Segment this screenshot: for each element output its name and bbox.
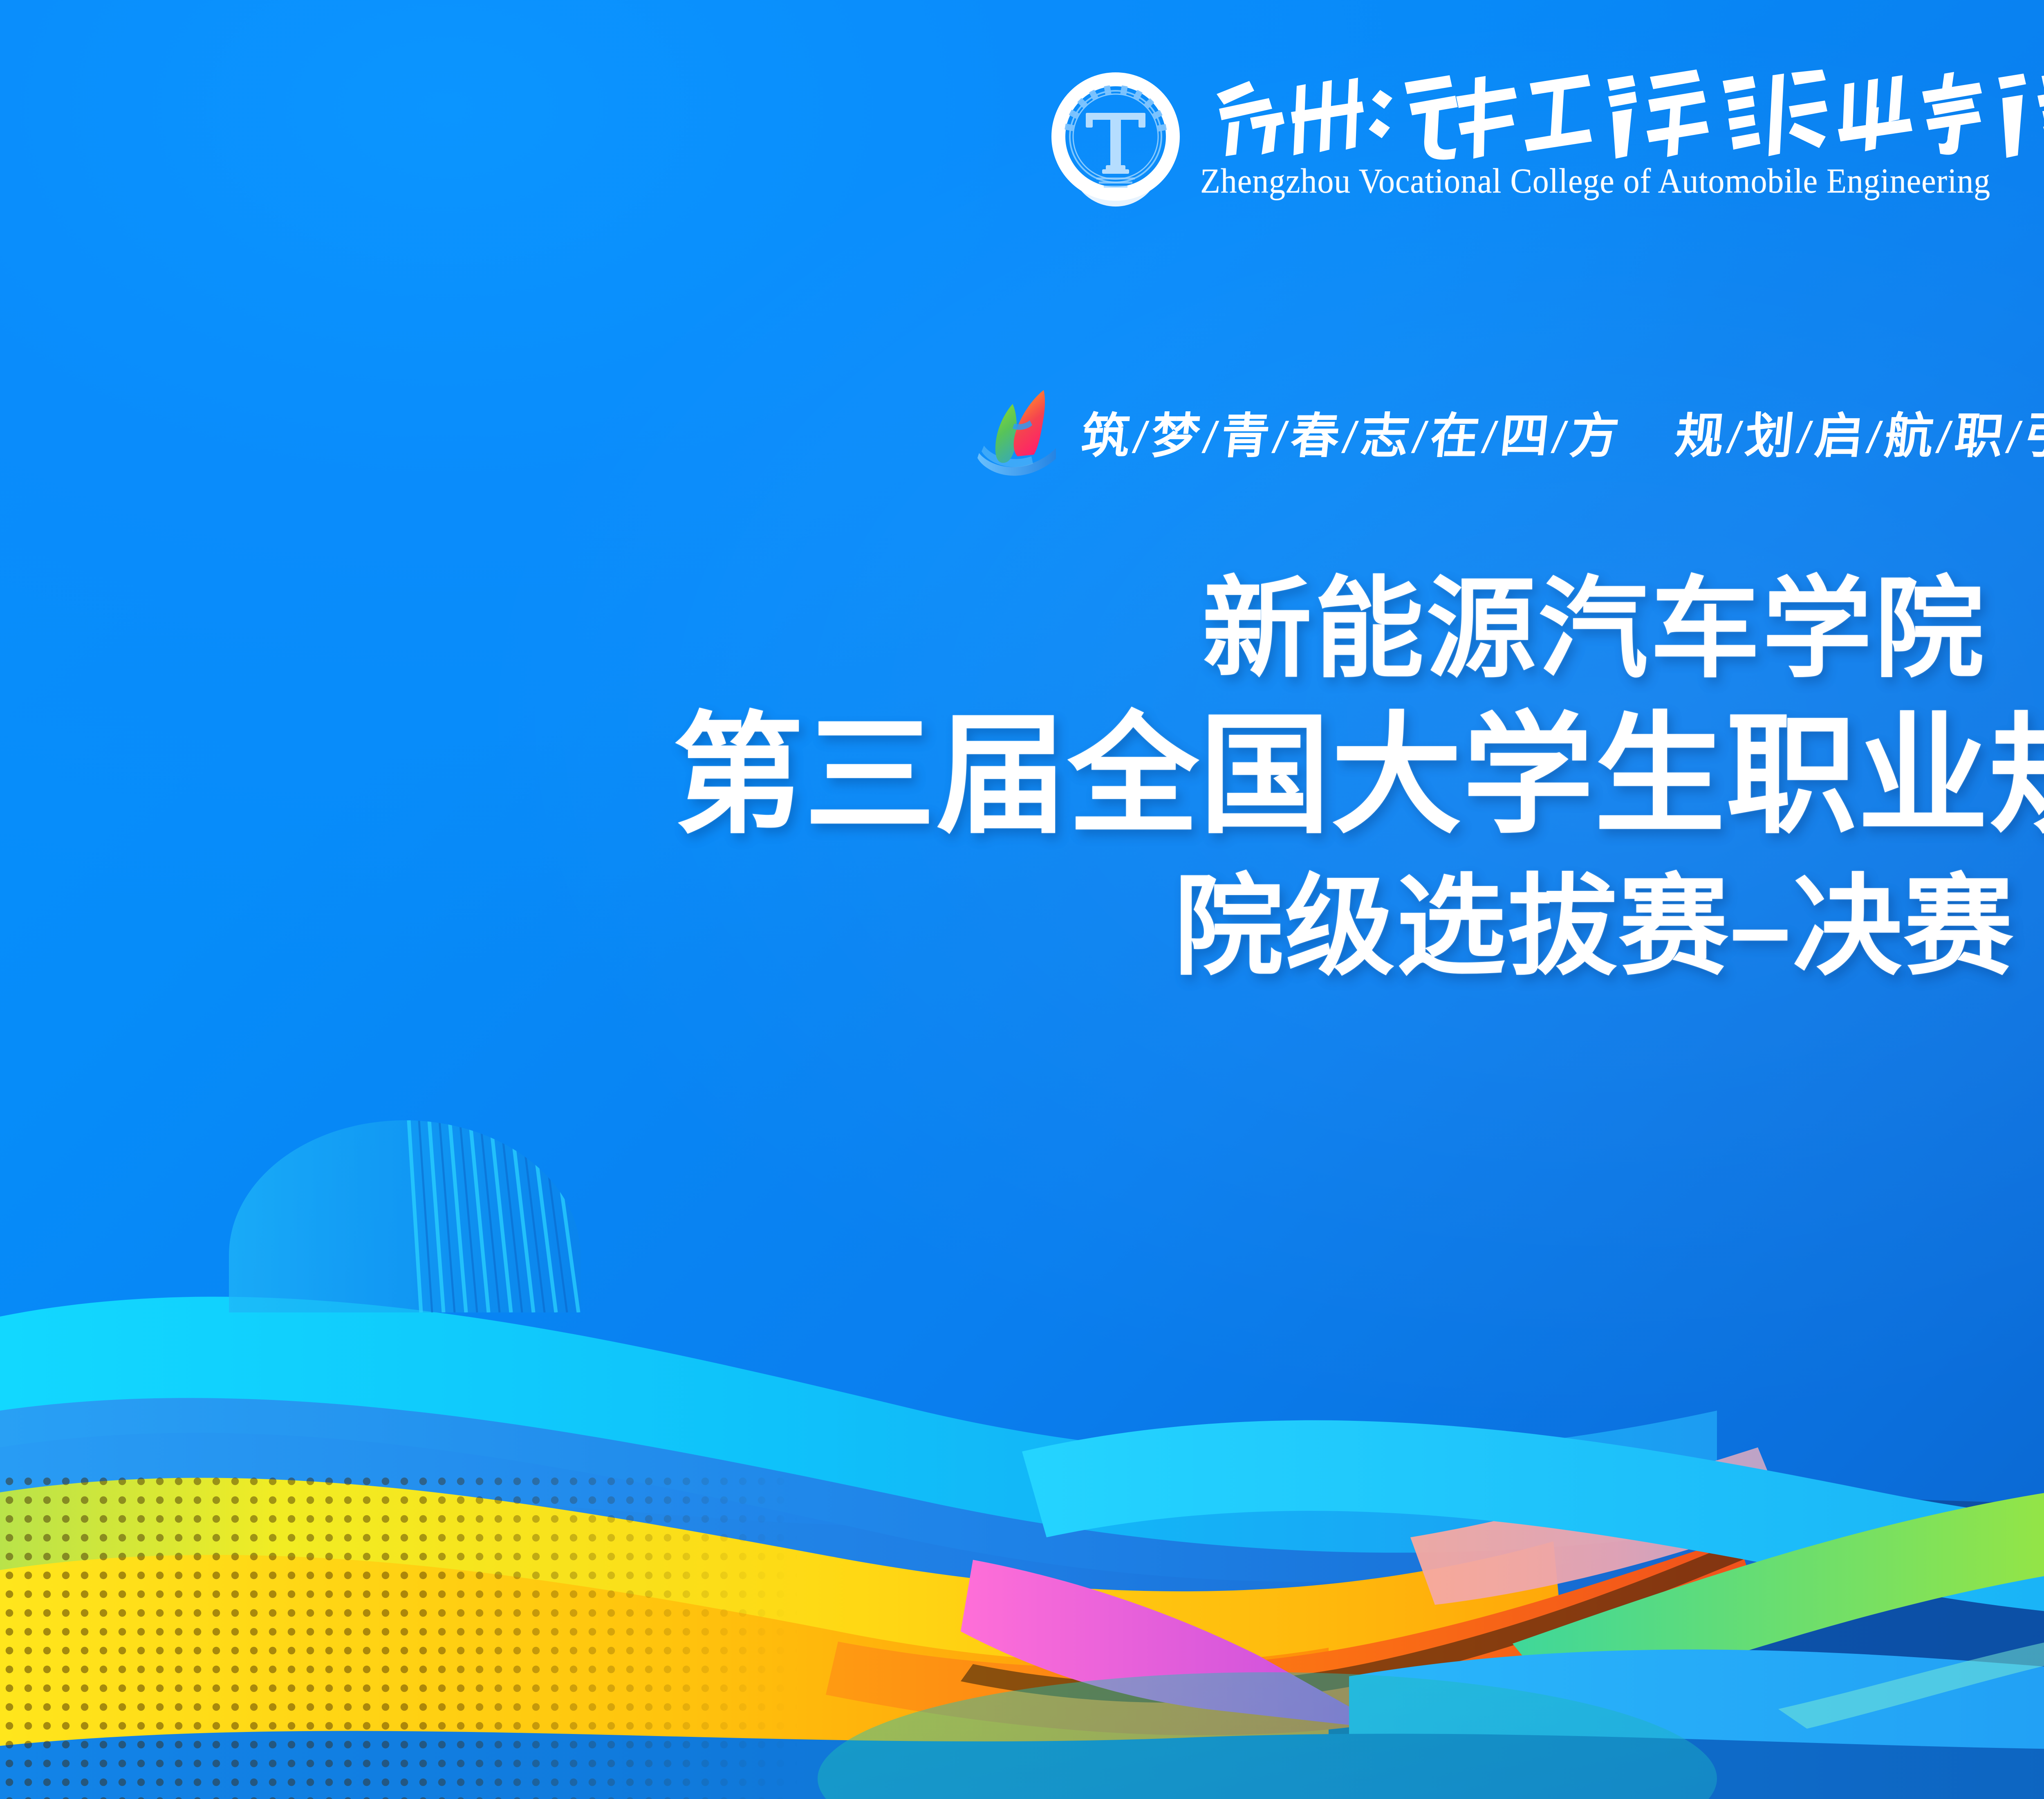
college-seal-emblem: [1048, 72, 1183, 207]
main-title-block: 新能源汽车学院 第三届全国大学生职业规划大赛 院级选拔赛–决赛: [0, 564, 2044, 993]
poster-canvas: 郑州汽车工程职业学院: [0, 0, 2044, 1799]
college-name-en: Zhengzhou Vocational College of Automobi…: [1200, 160, 1990, 201]
sailboat-icon: [972, 384, 1058, 478]
title-line-3: 院级选拔赛–决赛: [1174, 861, 2015, 993]
title-line-1: 新能源汽车学院: [1202, 564, 1986, 693]
college-logo-header: 郑州汽车工程职业学院: [0, 70, 2044, 207]
slogan-segment-1: 筑/梦/青/春/志/在/四/方: [1078, 397, 1627, 467]
slogan-row: 筑/梦/青/春/志/在/四/方 规/划/启/航/职/引/未/来: [0, 384, 2044, 478]
college-name-cn-calligraphy: 郑州汽车工程职业学院: [1200, 70, 2044, 164]
title-line-2: 第三届全国大学生职业规划大赛: [673, 697, 2044, 854]
slogan-segment-2: 规/划/启/航/职/引/未/来: [1672, 397, 2044, 467]
striped-dome-decoration: [229, 1120, 580, 1312]
